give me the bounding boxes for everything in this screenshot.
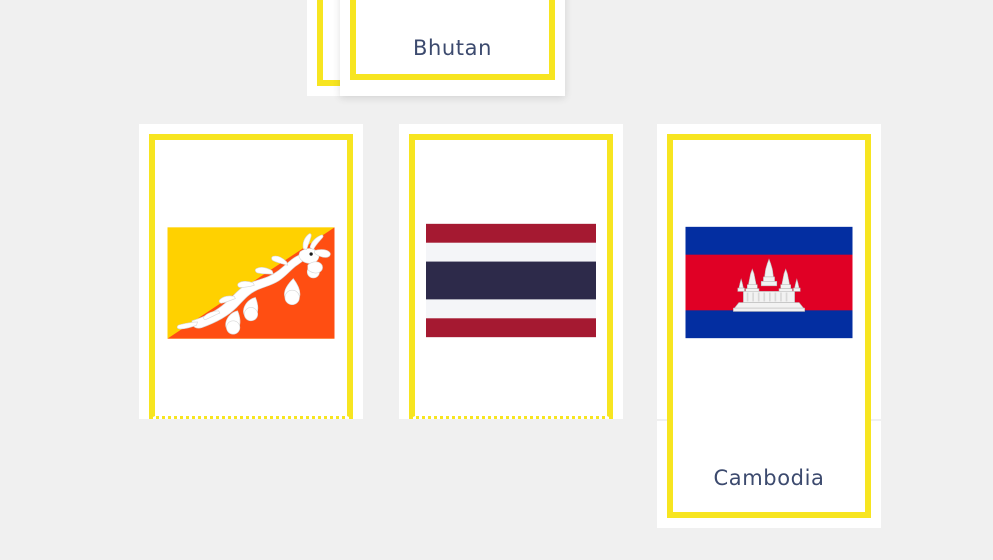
flag-card-thailand[interactable] — [399, 124, 623, 419]
flag-cambodia-icon — [686, 226, 853, 339]
answer-label-cambodia: Cambodia — [657, 466, 881, 490]
answer-label-card-cambodia[interactable]: Cambodia — [657, 421, 881, 528]
flag-card-bhutan[interactable] — [139, 124, 363, 419]
activity-board: Bhutan — [0, 0, 993, 560]
dragged-card-label: Bhutan — [340, 36, 565, 60]
flag-thailand-icon — [426, 223, 596, 338]
dragged-label-card-bhutan[interactable]: Bhutan — [340, 0, 565, 96]
flag-card-cambodia[interactable] — [657, 124, 881, 419]
flag-bhutan-icon — [168, 227, 335, 339]
